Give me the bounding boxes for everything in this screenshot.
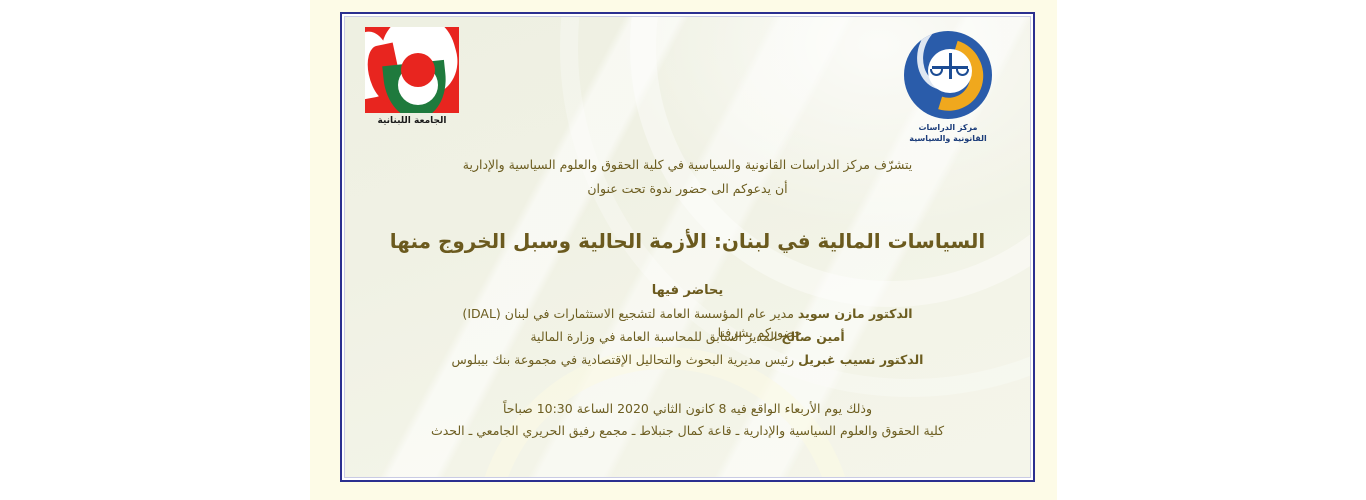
logo-row: الجامعة اللبنانية مركز الدراسات ا	[345, 25, 1030, 153]
invitation-card-inner: الجامعة اللبنانية مركز الدراسات ا	[344, 16, 1031, 478]
logo-red-dot-shape	[401, 53, 435, 87]
invitation-page: الجامعة اللبنانية مركز الدراسات ا	[0, 0, 1366, 500]
venue-line: كلية الحقوق والعلوم السياسية والإدارية ـ…	[345, 420, 1030, 442]
logistics-block: وذلك يوم الأربعاء الواقع فيه 8 كانون الث…	[345, 398, 1030, 442]
speaker-row: الدكتور مازن سويد مدير عام المؤسسة العام…	[345, 303, 1030, 324]
intro-line-1: يتشرّف مركز الدراسات القانونية والسياسية…	[345, 153, 1030, 177]
scales-stem-icon	[949, 53, 952, 79]
speaker-row: الدكتور نسيب غبريل رئيس مديرية البحوث وا…	[345, 349, 1030, 370]
intro-line-2: أن يدعوكم الى حضور ندوة تحت عنوان	[345, 177, 1030, 201]
speaker-name: الدكتور نسيب غبريل	[798, 352, 923, 367]
speakers-heading: يحاضر فيها	[345, 281, 1030, 301]
invitation-card: الجامعة اللبنانية مركز الدراسات ا	[340, 12, 1035, 482]
speaker-name: الدكتور مازن سويد	[798, 306, 913, 321]
center-studies-caption: مركز الدراسات القانونية والسياسية	[884, 123, 1012, 145]
invitation-content: يتشرّف مركز الدراسات القانونية والسياسية…	[345, 153, 1030, 442]
lebanese-university-logo: الجامعة اللبنانية	[353, 27, 471, 126]
center-studies-caption-line-2: القانونية والسياسية	[884, 134, 1012, 145]
speaker-title: مدير عام المؤسسة العامة لتشجيع الاستثمار…	[462, 306, 794, 321]
center-studies-emblem-icon	[904, 31, 992, 119]
closing-line: حضوركم يشرفنا	[345, 325, 1030, 340]
seminar-title: السياسات المالية في لبنان: الأزمة الحالي…	[345, 227, 1030, 255]
center-studies-caption-line-1: مركز الدراسات	[884, 123, 1012, 134]
speaker-title: رئيس مديرية البحوث والتحاليل الإقتصادية …	[452, 352, 795, 367]
lebanese-university-caption: الجامعة اللبنانية	[353, 116, 471, 126]
lebanese-university-emblem-icon	[365, 27, 459, 113]
datetime-line: وذلك يوم الأربعاء الواقع فيه 8 كانون الث…	[345, 398, 1030, 420]
center-legal-political-studies-logo: مركز الدراسات القانونية والسياسية	[884, 31, 1012, 145]
